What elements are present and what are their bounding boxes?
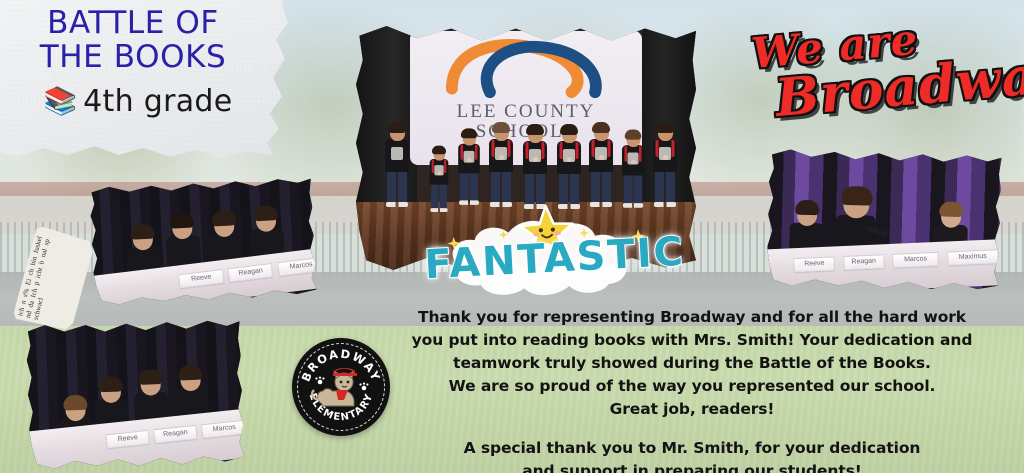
grade-label-text: 4th grade — [83, 84, 232, 119]
svg-text:BROADWAY: BROADWAY — [299, 347, 384, 384]
name-card: Reeve — [793, 257, 835, 273]
name-card: Reeve — [106, 430, 150, 448]
name-card: Reagan — [154, 425, 198, 443]
student-figure — [133, 374, 169, 423]
message-line: you put into reading books with Mrs. Smi… — [400, 329, 984, 352]
message-line: Thank you for representing Broadway and … — [400, 306, 984, 329]
student-figure — [173, 369, 209, 418]
stage-person — [457, 131, 480, 205]
message-line: and support in preparing our students! — [400, 460, 984, 473]
stage-person — [652, 125, 678, 207]
message-line: teamwork truly showed during the Battle … — [400, 352, 984, 375]
competition-photo-left-mid: Reeve Reagan Marcos — [89, 176, 317, 305]
torn-paper-panel: BATTLE OF THE BOOKS 📚 4th grade — [0, 0, 288, 160]
name-card: Marcos — [892, 253, 939, 269]
stage-person — [522, 127, 548, 209]
stage-person — [429, 148, 449, 212]
lee-county-swoosh-icon — [431, 36, 621, 99]
grade-label: 📚 4th grade — [8, 84, 268, 119]
fantastic-sticker: FANTASTIC — [422, 200, 670, 305]
message-line: A special thank you to Mr. Smith, for yo… — [400, 437, 984, 460]
stage-person — [621, 133, 645, 208]
logo-bottom-text: ELEMENTARY — [307, 392, 376, 423]
photo-scene: Reeve Reagan Marcos — [89, 176, 317, 305]
photo-scene: Reeve Reagan Marcos — [26, 318, 245, 469]
bobcat-mascot-icon — [312, 368, 368, 406]
photo-scene: Reeve Reagan Marcos Maximus — [766, 149, 1001, 291]
name-card: Maximus — [947, 250, 999, 266]
books-icon: 📚 — [44, 88, 78, 115]
paragraph-spacer — [400, 421, 984, 437]
name-card: Reagan — [228, 263, 274, 282]
message-line: We are so proud of the way you represent… — [400, 375, 984, 398]
logo-artwork: BROADWAY ELEMENTARY — [292, 338, 390, 436]
student-figure — [207, 215, 243, 265]
name-card: Reagan — [843, 255, 885, 271]
page-title: BATTLE OF THE BOOKS — [8, 6, 258, 74]
name-card: Marcos — [202, 419, 245, 438]
stage-person — [488, 125, 514, 207]
poster-canvas: BATTLE OF THE BOOKS 📚 4th grade ich n s%… — [0, 0, 1024, 473]
thank-you-message: Thank you for representing Broadway and … — [400, 306, 984, 473]
student-figure — [165, 217, 201, 267]
logo-top-text: BROADWAY — [299, 347, 384, 384]
message-line: Great job, readers! — [400, 398, 984, 421]
stage-person — [588, 125, 614, 207]
name-card: Marcos — [277, 257, 317, 277]
stage-person — [556, 127, 582, 209]
broadway-elementary-logo: BROADWAY ELEMENTARY — [292, 338, 390, 436]
stage-person — [384, 125, 410, 207]
competition-photo-right: Reeve Reagan Marcos Maximus — [766, 149, 1001, 291]
name-card: Reeve — [179, 269, 225, 288]
competition-photo-left-bottom: Reeve Reagan Marcos — [26, 318, 245, 469]
svg-text:ELEMENTARY: ELEMENTARY — [307, 392, 376, 423]
student-speaking — [835, 191, 877, 250]
